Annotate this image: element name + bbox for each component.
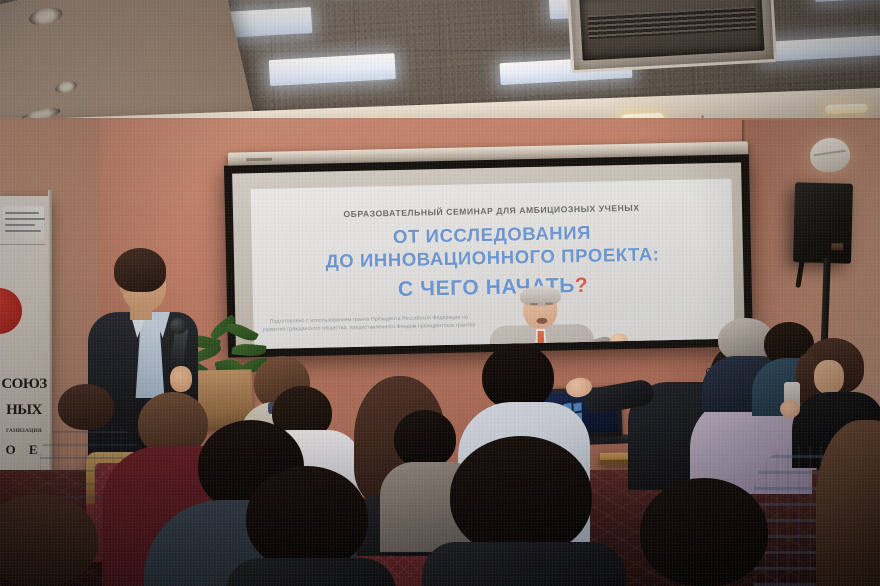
- audience-face: [814, 360, 844, 394]
- downlight-icon: [825, 104, 867, 115]
- plant-leaf: [225, 319, 259, 345]
- banner-logo-line: [5, 218, 45, 220]
- banner-word-3: ГАНИЗАЦИЯ: [0, 428, 50, 434]
- presenter-hand: [170, 366, 192, 392]
- audience-hand: [780, 400, 800, 418]
- presentation-slide: ОБРАЗОВАТЕЛЬНЫЙ СЕМИНАР ДЛЯ АМБИЦИОЗНЫХ …: [250, 179, 735, 350]
- audience-long-hair: [816, 420, 880, 586]
- ac-vent: [567, 0, 778, 73]
- slide-person-hair: [520, 285, 561, 306]
- microphone-head-icon: [170, 318, 187, 334]
- banner-logo-block: [2, 206, 44, 240]
- slide-eyebrow-text: ОБРАЗОВАТЕЛЬНЫЙ СЕМИНАР ДЛЯ АМБИЦИОЗНЫХ …: [251, 201, 732, 221]
- speaker-badge-icon: [831, 243, 843, 250]
- audience-head: [640, 478, 768, 586]
- banner-word-2: НЫХ: [0, 402, 50, 419]
- audience-member: [0, 494, 100, 586]
- banner-divider: [0, 244, 46, 245]
- projection-screen: ОБРАЗОВАТЕЛЬНЫЙ СЕМИНАР ДЛЯ АМБИЦИОЗНЫХ …: [224, 154, 753, 357]
- presenter-hair: [114, 248, 166, 292]
- projection-screen-surface: ОБРАЗОВАТЕЛЬНЫЙ СЕМИНАР ДЛЯ АМБИЦИОЗНЫХ …: [232, 162, 745, 349]
- sconce-seam: [814, 150, 846, 156]
- audience-member: [640, 478, 770, 586]
- slide-person-hand: [610, 333, 628, 348]
- audience-head: [482, 344, 554, 410]
- banner-logo-line: [5, 224, 35, 226]
- audience-head: [450, 436, 592, 556]
- audience-head: [246, 466, 368, 570]
- audience-shirt: [422, 542, 626, 586]
- rollup-banner: СОЮЗ НЫХ ГАНИЗАЦИЯ О Е: [0, 196, 50, 478]
- slide-fineprint: Подготовлено с использованием гранта Пре…: [261, 314, 476, 334]
- recessed-spot-icon: [27, 5, 64, 28]
- banner-logo-line: [5, 230, 41, 232]
- slide-person-brow-left: [530, 303, 538, 305]
- pa-speaker: [793, 182, 853, 263]
- recessed-spot-icon: [54, 79, 78, 95]
- audience-member: [816, 420, 880, 586]
- banner-logo-line: [5, 212, 39, 214]
- slide-photo-person: [485, 288, 600, 350]
- audience-member: [240, 466, 380, 586]
- slide-person-brow-right: [545, 303, 553, 305]
- audience-member: [432, 436, 612, 586]
- photo-scene: ОБРАЗОВАТЕЛЬНЫЙ СЕМИНАР ДЛЯ АМБИЦИОЗНЫХ …: [0, 0, 880, 586]
- audience-shirt: [226, 558, 396, 586]
- banner-word-1: СОЮЗ: [0, 376, 50, 393]
- housing-label: [246, 158, 272, 162]
- banner-red-circle: [0, 288, 22, 334]
- audience-head: [0, 494, 98, 586]
